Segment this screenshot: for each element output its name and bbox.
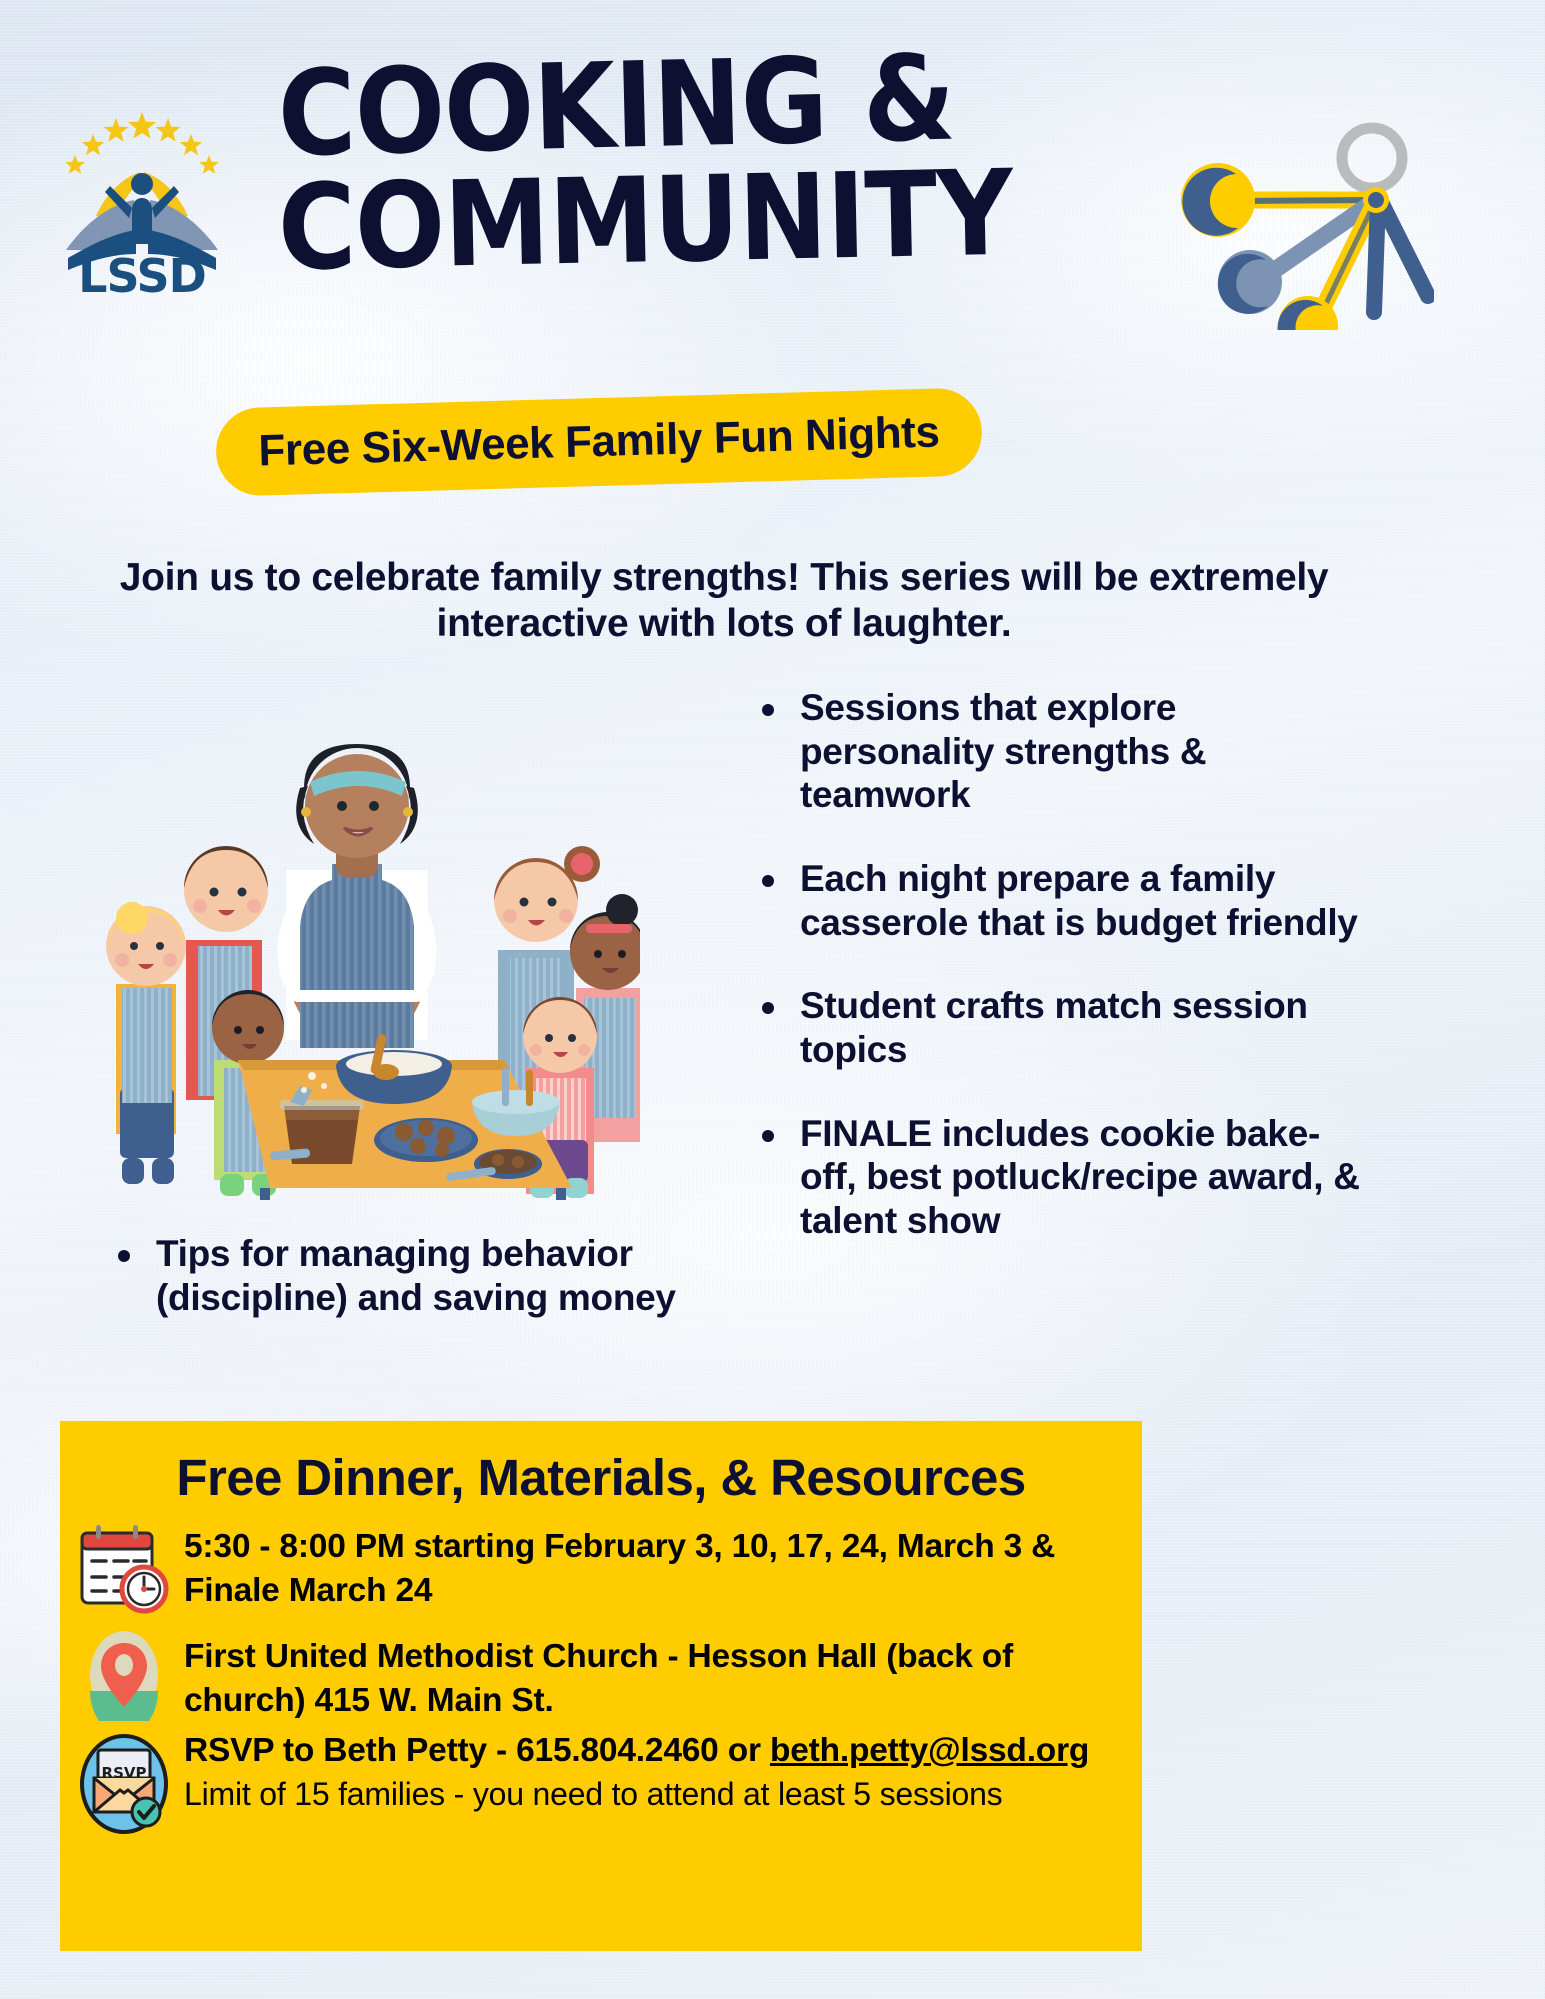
- feature-bullets-right: Sessions that explore personality streng…: [752, 686, 1372, 1243]
- info-location-text: First United Methodist Church - Hesson H…: [184, 1629, 1116, 1722]
- rsvp-prefix-text: RSVP to Beth Petty - 615.804.2460 or: [184, 1732, 770, 1769]
- rsvp-envelope-icon: RSVP: [76, 1732, 172, 1836]
- feature-bullets-left: Tips for managing behavior (discipline) …: [108, 1232, 728, 1319]
- svg-text:LSSD: LSSD: [78, 249, 206, 298]
- family-cooking-illustration: [74, 688, 640, 1200]
- flyer-title: Cooking & Community: [278, 60, 938, 283]
- info-date-text: 5:30 - 8:00 PM starting February 3, 10, …: [184, 1523, 1116, 1612]
- intro-text: Join us to celebrate family strengths! T…: [96, 555, 1352, 646]
- bullet-sessions: Sessions that explore personality streng…: [752, 686, 1372, 817]
- bullet-tips: Tips for managing behavior (discipline) …: [108, 1232, 728, 1319]
- bullet-finale: FINALE includes cookie bake-off, best po…: [752, 1112, 1372, 1243]
- info-title: Free Dinner, Materials, & Resources: [60, 1421, 1142, 1507]
- flyer-page: LSSD Cooking & Community: [0, 0, 1545, 1999]
- info-row-rsvp: RSVP RSVP to Beth Petty - 615.804.2460 o…: [60, 1732, 1142, 1836]
- bullet-casserole: Each night prepare a family casserole th…: [752, 857, 1372, 944]
- info-row-date: 5:30 - 8:00 PM starting February 3, 10, …: [60, 1523, 1142, 1615]
- lssd-logo: LSSD: [44, 108, 240, 298]
- info-rsvp-line: RSVP to Beth Petty - 615.804.2460 or bet…: [184, 1732, 1089, 1770]
- map-pin-icon: [76, 1629, 172, 1721]
- title-line-2: Community: [277, 160, 939, 284]
- info-row-location: First United Methodist Church - Hesson H…: [60, 1629, 1142, 1722]
- banner-text: Free Six-Week Family Fun Nights: [258, 407, 940, 476]
- info-box: Free Dinner, Materials, & Resources: [60, 1421, 1142, 1951]
- banner-pill: Free Six-Week Family Fun Nights: [215, 387, 983, 496]
- calendar-clock-icon: [76, 1523, 172, 1615]
- measuring-spoons-icon: [1148, 100, 1434, 330]
- info-rsvp-note: Limit of 15 families - you need to atten…: [184, 1776, 1089, 1813]
- bullet-crafts: Student crafts match session topics: [752, 984, 1372, 1071]
- rsvp-email-link[interactable]: beth.petty@lssd.org: [770, 1732, 1089, 1769]
